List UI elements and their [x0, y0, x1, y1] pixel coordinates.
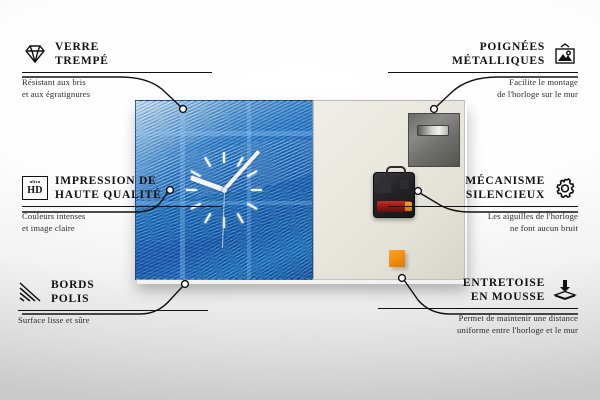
callout-title: VERRE TREMPÉ	[55, 40, 109, 68]
callout-subtitle: Permet de maintenir une distance uniform…	[378, 313, 578, 336]
picture-frame-hanger-icon	[552, 42, 578, 66]
callout-title-row: MÉCANISME SILENCIEUX	[388, 174, 578, 202]
callout-subtitle: Surface lisse et sûre	[18, 315, 208, 327]
callout-divider	[22, 206, 222, 207]
down-arrow-foam-icon	[552, 278, 578, 302]
callout-subtitle: Résistant aux bris et aux égratignures	[22, 77, 212, 100]
callout-title-row: POIGNÉES MÉTALLIQUES	[388, 40, 578, 68]
callout-title: MÉCANISME SILENCIEUX	[465, 174, 545, 202]
gear-icon	[552, 176, 578, 200]
callout-divider	[18, 310, 208, 311]
callout-poignees-metalliques[interactable]: POIGNÉES MÉTALLIQUES Facilite le montage…	[388, 40, 578, 101]
bracket-slot	[417, 125, 449, 136]
foam-spacer	[389, 250, 405, 267]
callout-subtitle: Les aiguilles de l'horloge ne font aucun…	[388, 211, 578, 234]
callout-impression-haute-qualite[interactable]: ultra HD IMPRESSION DE HAUTE QUALITÉ Cou…	[22, 174, 222, 235]
callout-bords-polis[interactable]: BORDS POLIS Surface lisse et sûre	[18, 278, 208, 327]
callout-title: POIGNÉES MÉTALLIQUES	[452, 40, 545, 68]
callout-subtitle: Facilite le montage de l'horloge sur le …	[388, 77, 578, 100]
callout-title: BORDS POLIS	[51, 278, 94, 306]
callout-title-row: VERRE TREMPÉ	[22, 40, 212, 68]
callout-divider	[388, 206, 578, 207]
callout-divider	[22, 72, 212, 73]
callout-subtitle: Couleurs intenses et image claire	[22, 211, 222, 234]
clock-center-pin	[222, 188, 227, 193]
infographic-canvas: VERRE TREMPÉ Résistant aux bris et aux é…	[0, 0, 600, 400]
callout-verre-trempe[interactable]: VERRE TREMPÉ Résistant aux bris et aux é…	[22, 40, 212, 101]
callout-title-row: ultra HD IMPRESSION DE HAUTE QUALITÉ	[22, 174, 222, 202]
callout-title: ENTRETOISE EN MOUSSE	[463, 276, 545, 304]
callout-divider	[378, 308, 578, 309]
callout-entretoise-en-mousse[interactable]: ENTRETOISE EN MOUSSE Permet de maintenir…	[378, 276, 578, 337]
diagonal-lines-icon	[18, 280, 44, 304]
callout-title-row: BORDS POLIS	[18, 278, 208, 306]
metal-hanger-bracket	[408, 113, 460, 167]
callout-mecanisme-silencieux[interactable]: MÉCANISME SILENCIEUX Les aiguilles de l'…	[388, 174, 578, 235]
diamond-icon	[22, 42, 48, 66]
callout-title: IMPRESSION DE HAUTE QUALITÉ	[55, 174, 162, 202]
ultra-hd-icon: ultra HD	[22, 176, 48, 200]
callout-title-row: ENTRETOISE EN MOUSSE	[378, 276, 578, 304]
callout-divider	[388, 72, 578, 73]
